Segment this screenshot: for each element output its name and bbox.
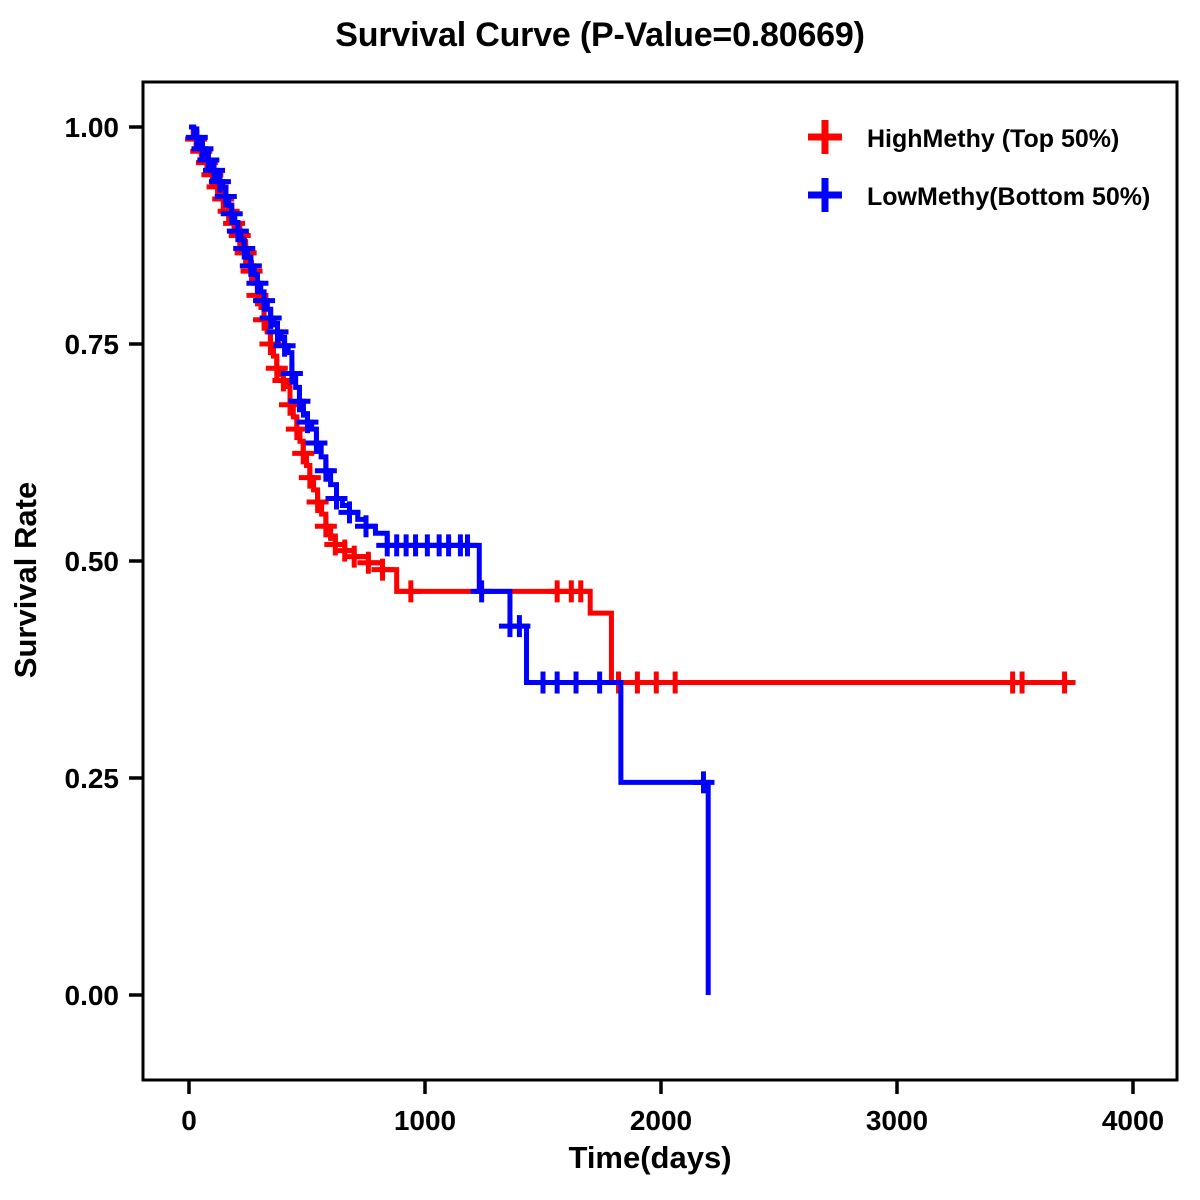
- plot-frame: [143, 82, 1177, 1080]
- y-tick-label: 0.25: [65, 763, 120, 794]
- y-tick-label: 0.00: [65, 980, 120, 1011]
- x-tick-label: 3000: [866, 1105, 928, 1136]
- chart-legend: HighMethy (Top 50%)LowMethy(Bottom 50%): [808, 120, 1150, 212]
- x-tick-label: 2000: [630, 1105, 692, 1136]
- y-tick-label: 0.50: [65, 546, 120, 577]
- y-tick-label: 1.00: [65, 112, 120, 143]
- series-high-methy: [185, 127, 1075, 694]
- series-layer: [185, 126, 1075, 995]
- chart-page: Survival Curve (P-Value=0.80669) 0100020…: [0, 0, 1200, 1200]
- legend-item-low-methy[interactable]: LowMethy(Bottom 50%): [808, 178, 1150, 212]
- x-tick-label: 0: [181, 1105, 197, 1136]
- legend-item-high-methy[interactable]: HighMethy (Top 50%): [808, 120, 1119, 154]
- series-low-methy: [186, 126, 715, 995]
- y-axis-ticks: 0.000.250.500.751.00: [65, 112, 144, 1011]
- legend-item-label: HighMethy (Top 50%): [867, 125, 1119, 153]
- survival-chart: 01000200030004000 0.000.250.500.751.00 T…: [0, 0, 1200, 1200]
- y-tick-label: 0.75: [65, 329, 120, 360]
- x-axis-ticks: 01000200030004000: [181, 1080, 1164, 1136]
- y-axis-title: Survival Rate: [8, 482, 43, 678]
- x-axis-title: Time(days): [568, 1140, 731, 1175]
- x-tick-label: 4000: [1102, 1105, 1164, 1136]
- km-step-line: [189, 127, 708, 995]
- legend-item-label: LowMethy(Bottom 50%): [867, 183, 1150, 211]
- x-tick-label: 1000: [394, 1105, 456, 1136]
